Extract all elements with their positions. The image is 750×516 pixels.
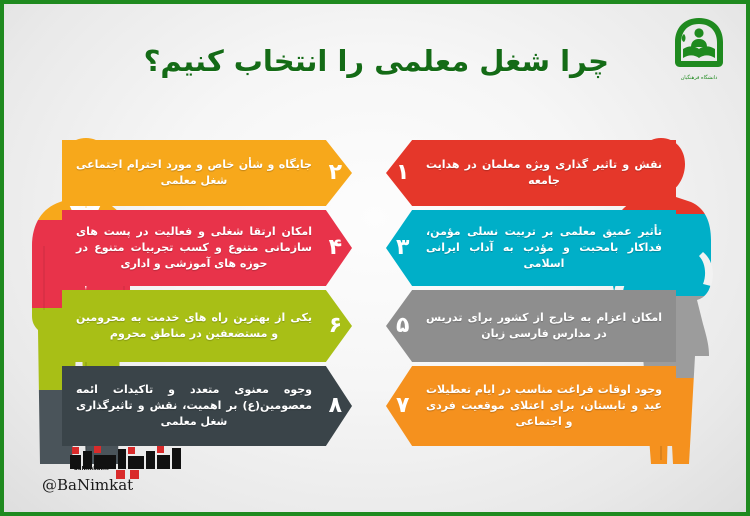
item-text-3: تأثیر عمیق معلمی بر تربیت نسلی مؤمن، فدا… [426, 224, 662, 272]
item-bar-8[interactable]: ۸ وجوه معنوی متعدد و تاکیدات ائمه معصومی… [62, 366, 352, 446]
brand-footer: BaNimkat.ir @BaNimkat [42, 445, 192, 494]
item-number-2: ۲ [329, 162, 342, 184]
infographic-poster: چرا شغل معلمی را انتخاب کنیم؟ دانشگاه فر… [0, 0, 750, 516]
item-number-8: ۸ [329, 395, 342, 417]
item-text-6: یکی از بهترین راه های خدمت به محرومین و … [76, 310, 312, 342]
item-bar-2[interactable]: ۲ جایگاه و شأن خاص و مورد احترام اجتماعی… [62, 140, 352, 206]
items-list: ۱ نقش و تاثیر گذاری ویژه معلمان در هدایت… [4, 140, 750, 456]
row-3: ۵ امکان اعزام به خارج از کشور برای تدریس… [4, 290, 750, 362]
item-text-5: امکان اعزام به خارج از کشور برای تدریس د… [426, 310, 662, 342]
item-number-1: ۱ [396, 162, 409, 184]
item-bar-6[interactable]: ۶ یکی از بهترین راه های خدمت به محرومین … [62, 290, 352, 362]
item-bar-3[interactable]: ۳ تأثیر عمیق معلمی بر تربیت نسلی مؤمن، ف… [386, 210, 676, 286]
brand-url: BaNimkat.ir [74, 466, 110, 472]
item-bar-5[interactable]: ۵ امکان اعزام به خارج از کشور برای تدریس… [386, 290, 676, 362]
item-text-1: نقش و تاثیر گذاری ویژه معلمان در هدایت ج… [426, 157, 662, 189]
item-text-2: جایگاه و شأن خاص و مورد احترام اجتماعی ش… [76, 157, 312, 189]
item-number-7: ۷ [396, 395, 409, 417]
item-number-5: ۵ [396, 315, 409, 337]
item-bar-4[interactable]: ۴ امکان ارتقا شغلی و فعالیت در پست های س… [62, 210, 352, 286]
logo-caption: دانشگاه فرهنگیان [666, 75, 732, 81]
item-text-4: امکان ارتقا شغلی و فعالیت در پست های ساز… [76, 224, 312, 272]
item-bar-1[interactable]: ۱ نقش و تاثیر گذاری ویژه معلمان در هدایت… [386, 140, 676, 206]
item-text-7: وجود اوقات فراغت مناسب در ایام تعطیلات ع… [426, 382, 662, 430]
item-number-6: ۶ [329, 315, 342, 337]
row-2: ۳ تأثیر عمیق معلمی بر تربیت نسلی مؤمن، ف… [4, 210, 750, 286]
row-1: ۱ نقش و تاثیر گذاری ویژه معلمان در هدایت… [4, 140, 750, 206]
item-text-8: وجوه معنوی متعدد و تاکیدات ائمه معصومین(… [76, 382, 312, 430]
row-4: ۷ وجود اوقات فراغت مناسب در ایام تعطیلات… [4, 366, 750, 446]
item-number-4: ۴ [329, 237, 342, 259]
banimkat-logo[interactable]: BaNimkat.ir [70, 445, 192, 471]
poster-header: چرا شغل معلمی را انتخاب کنیم؟ دانشگاه فر… [4, 4, 750, 124]
page-title: چرا شغل معلمی را انتخاب کنیم؟ [144, 44, 609, 78]
item-number-3: ۳ [396, 237, 409, 259]
farhangian-university-logo: دانشگاه فرهنگیان [666, 16, 732, 82]
item-bar-7[interactable]: ۷ وجود اوقات فراغت مناسب در ایام تعطیلات… [386, 366, 676, 446]
